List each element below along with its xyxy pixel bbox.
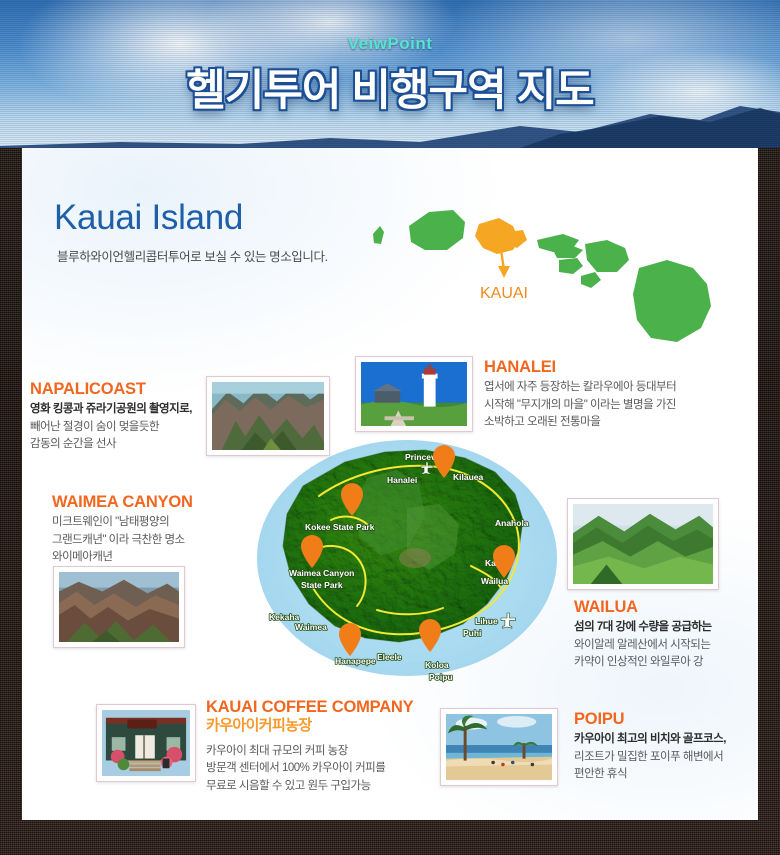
spot-waimea-canyon-line3: 와이메아캐년 <box>52 551 112 563</box>
photo-poipu-image <box>446 714 552 780</box>
map-label-anahola: Anahola <box>495 518 529 528</box>
spot-hanalei-line2: 시작해 "무지개의 마을" 이라는 별명을 가진 <box>484 399 676 411</box>
spot-kauai-coffee: KAUAI COFFEE COMPANY 카우아이커피농장 카우아이 최대 규모… <box>206 698 456 795</box>
spot-wailua-title: WAILUA <box>574 598 758 616</box>
spot-poipu-line3: 편안한 휴식 <box>574 768 627 780</box>
map-label-kilauea: Kilauea <box>453 472 484 482</box>
spot-hanalei: HANALEI 엽서에 자주 등장하는 칼라우에아 등대부터 시작해 "무지개의… <box>484 358 734 432</box>
spot-kauai-coffee-desc: 카우아이 최대 규모의 커피 농장 방문객 센터에서 100% 카우아이 커피를… <box>206 743 456 795</box>
header-eyebrow: VeiwPoint <box>0 34 780 54</box>
page-header: VeiwPoint 헬기투어 비행구역 지도 <box>0 0 780 148</box>
spot-poipu: POIPU 카우아이 최고의 비치와 골프코스, 리조트가 밀집한 포이푸 해변… <box>574 710 754 784</box>
kauai-chain-label: KAUAI <box>480 285 528 302</box>
photo-waimea-canyon-image <box>59 572 179 642</box>
photo-wailua-image <box>573 504 713 584</box>
spot-napalicoast-line2: 빼어난 절경이 숨이 멎을듯한 <box>30 421 159 433</box>
spot-kauai-coffee-line2: 방문객 센터에서 100% 카우아이 커피를 <box>206 762 385 774</box>
spot-waimea-canyon-desc: 미크트웨인이 "남태평양의 그랜드캐년" 이라 극찬한 명소 와이메아캐년 <box>52 514 237 566</box>
photo-kauai-coffee[interactable] <box>96 704 196 782</box>
spot-poipu-title: POIPU <box>574 710 754 728</box>
map-label-poipu: Poipu <box>429 672 453 682</box>
map-label-puhi: Puhi <box>463 628 481 638</box>
map-label-koloa: Koloa <box>425 660 449 670</box>
spot-hanalei-title: HANALEI <box>484 358 734 376</box>
spot-kauai-coffee-title-kr: 카우아이커피농장 <box>206 717 456 736</box>
photo-napalicoast[interactable] <box>206 376 330 456</box>
intro-title: Kauai Island <box>54 198 243 238</box>
spot-napalicoast-title: NAPALICOAST <box>30 380 195 398</box>
map-label-state-park: State Park <box>301 580 343 590</box>
photo-poipu[interactable] <box>440 708 558 786</box>
page-root: VeiwPoint 헬기투어 비행구역 지도 Kauai Island 블루하와… <box>0 0 780 855</box>
intro-subtitle: 블루하와이언헬리콥터투어로 보실 수 있는 명소입니다. <box>57 246 328 265</box>
map-label-waimea: Waimea <box>295 622 327 632</box>
spot-napalicoast: NAPALICOAST 영화 킹콩과 쥬라기공원의 촬영지로, 빼어난 절경이 … <box>30 380 195 454</box>
photo-napalicoast-image <box>212 382 324 450</box>
hawaii-island-chain-map: KAUAI <box>367 188 752 348</box>
spot-waimea-canyon-line1: 미크트웨인이 "남태평양의 <box>52 516 169 528</box>
photo-hanalei[interactable] <box>355 356 473 432</box>
kauai-detail-map[interactable]: Princeville Hanalei Kilauea Anahola Koke… <box>257 438 557 688</box>
kauai-highlight-shape <box>475 218 527 254</box>
photo-hanalei-image <box>361 362 467 426</box>
spot-wailua-line1: 섬의 7대 강에 수량을 공급하는 <box>574 621 712 633</box>
spot-poipu-line2: 리조트가 밀집한 포이푸 해변에서 <box>574 751 723 763</box>
map-label-eleele: Eleele <box>377 652 402 662</box>
spot-hanalei-line3: 소박하고 오래된 전통마을 <box>484 416 600 428</box>
spot-poipu-line1: 카우아이 최고의 비치와 골프코스, <box>574 733 726 745</box>
spot-napalicoast-desc: 영화 킹콩과 쥬라기공원의 촬영지로, 빼어난 절경이 숨이 멎을듯한 감동의 … <box>30 401 195 453</box>
spot-poipu-desc: 카우아이 최고의 비치와 골프코스, 리조트가 밀집한 포이푸 해변에서 편안한… <box>574 731 754 783</box>
spot-waimea-canyon-line2: 그랜드캐년" 이라 극찬한 명소 <box>52 534 185 546</box>
header-text-block: VeiwPoint 헬기투어 비행구역 지도 <box>0 34 780 118</box>
spot-waimea-canyon: WAIMEA CANYON 미크트웨인이 "남태평양의 그랜드캐년" 이라 극찬… <box>52 493 237 567</box>
map-label-waimea-canyon: Waimea Canyon <box>289 568 354 578</box>
map-label-lihue: Lihue <box>475 616 498 626</box>
spot-kauai-coffee-line1: 카우아이 최대 규모의 커피 농장 <box>206 745 348 757</box>
spot-napalicoast-line1: 영화 킹콩과 쥬라기공원의 촬영지로, <box>30 403 192 415</box>
photo-wailua[interactable] <box>567 498 719 590</box>
spot-hanalei-desc: 엽서에 자주 등장하는 칼라우에아 등대부터 시작해 "무지개의 마을" 이라는… <box>484 379 734 431</box>
spot-hanalei-line1: 엽서에 자주 등장하는 칼라우에아 등대부터 <box>484 381 676 393</box>
page-title: 헬기투어 비행구역 지도 <box>0 56 780 118</box>
spot-wailua-line2: 와이알레 알레산에서 시작되는 <box>574 639 710 651</box>
spot-kauai-coffee-title: KAUAI COFFEE COMPANY <box>206 698 456 716</box>
spot-wailua-line3: 카약이 인상적인 와일루아 강 <box>574 656 703 668</box>
content-card: Kauai Island 블루하와이언헬리콥터투어로 보실 수 있는 명소입니다… <box>22 148 758 820</box>
photo-waimea-canyon[interactable] <box>53 566 185 648</box>
photo-kauai-coffee-image <box>102 710 190 776</box>
map-label-hanapepe: Hanapepe <box>335 656 376 666</box>
spot-waimea-canyon-title: WAIMEA CANYON <box>52 493 237 511</box>
map-label-kekaha: Kekaha <box>269 612 300 622</box>
spot-napalicoast-line3: 감동의 순간을 선사 <box>30 438 116 450</box>
spot-wailua: WAILUA 섬의 7대 강에 수량을 공급하는 와이알레 알레산에서 시작되는… <box>574 598 758 672</box>
spot-wailua-desc: 섬의 7대 강에 수량을 공급하는 와이알레 알레산에서 시작되는 카약이 인상… <box>574 619 758 671</box>
spot-kauai-coffee-line3: 무료로 시음할 수 있고 원두 구입가능 <box>206 780 371 792</box>
map-label-hanalei: Hanalei <box>387 475 417 485</box>
map-label-kokee: Kokee State Park <box>305 522 375 532</box>
